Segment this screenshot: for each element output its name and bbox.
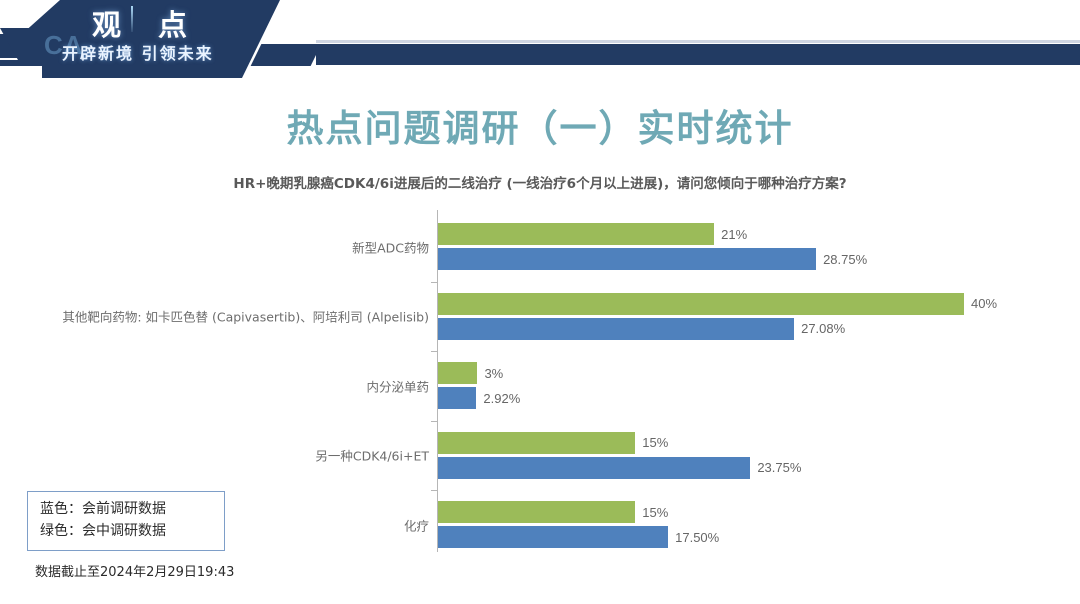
- page-title: 热点问题调研（一）实时统计: [0, 98, 1080, 152]
- chart-bar-row: 15%: [438, 501, 668, 523]
- chart-bar-value: 17.50%: [675, 530, 719, 545]
- chart-bar-row: 15%: [438, 432, 668, 454]
- header-banner: CA 观 点 开辟新境 引领未来: [0, 0, 300, 78]
- chart-bar-blue: [438, 248, 816, 270]
- chart-bar-blue: [438, 387, 476, 409]
- data-cutoff-note: 数据截止至2024年2月29日19:43: [35, 561, 234, 580]
- chart-category-label: 新型ADC药物: [352, 237, 429, 256]
- chart-bar-green: [438, 362, 477, 384]
- chart-category-label: 内分泌单药: [366, 376, 429, 395]
- chart-bar-value: 2.92%: [483, 391, 520, 406]
- chart-bar-value: 15%: [642, 505, 668, 520]
- chart-bar-green: [438, 223, 714, 245]
- banner-title: 观 点: [92, 2, 191, 44]
- legend-line-blue: 蓝色：会前调研数据: [40, 499, 214, 521]
- chart-bar-row: 23.75%: [438, 457, 801, 479]
- chart-category-label: 其他靶向药物: 如卡匹色替 (Capivasertib)、阿培利司 (Alpel…: [62, 307, 429, 326]
- chart-bar-blue: [438, 318, 794, 340]
- chart-category-group: 其他靶向药物: 如卡匹色替 (Capivasertib)、阿培利司 (Alpel…: [0, 282, 1080, 352]
- chart-axis-tick: [431, 351, 437, 352]
- banner-subtitle: 开辟新境 引领未来: [62, 40, 214, 64]
- legend-box: 蓝色：会前调研数据 绿色：会中调研数据: [27, 491, 225, 551]
- chart-bar-blue: [438, 457, 750, 479]
- chart-bar-row: 28.75%: [438, 248, 867, 270]
- chart-bar-row: 40%: [438, 293, 997, 315]
- chart-axis-tick: [431, 490, 437, 491]
- chart-bar-row: 21%: [438, 223, 747, 245]
- chart-bar-row: 3%: [438, 362, 503, 384]
- chart-bar-value: 27.08%: [801, 321, 845, 336]
- chart-bar-row: 17.50%: [438, 526, 719, 548]
- chart-category-group: 另一种CDK4/6i+ET15%23.75%: [0, 421, 1080, 491]
- vertical-divider-icon: [131, 6, 133, 32]
- survey-question: HR+晚期乳腺癌CDK4/6i进展后的二线治疗 (一线治疗6个月以上进展)，请问…: [0, 172, 1080, 192]
- chart-bar-green: [438, 432, 635, 454]
- chart-bar-row: 27.08%: [438, 318, 845, 340]
- header-bar-highlight: [316, 40, 1080, 43]
- chart-category-group: 内分泌单药3%2.92%: [0, 351, 1080, 421]
- chart-category-label: 另一种CDK4/6i+ET: [315, 446, 429, 465]
- chart-bar-value: 28.75%: [823, 252, 867, 267]
- chart-axis-tick: [431, 421, 437, 422]
- legend-line-green: 绿色：会中调研数据: [40, 521, 214, 543]
- chart-category-label: 化疗: [404, 515, 429, 534]
- chart-axis-tick: [431, 282, 437, 283]
- chart-bar-value: 40%: [971, 296, 997, 311]
- chart-bar-value: 15%: [642, 435, 668, 450]
- header-bar: [316, 44, 1080, 65]
- chart-bar-green: [438, 501, 635, 523]
- chart-bar-value: 3%: [484, 366, 503, 381]
- chart-bar-blue: [438, 526, 668, 548]
- banner-tail-shape: [251, 44, 322, 66]
- chart-bar-value: 23.75%: [757, 460, 801, 475]
- chart-category-group: 新型ADC药物21%28.75%: [0, 212, 1080, 282]
- chart-bar-green: [438, 293, 964, 315]
- chart-bar-row: 2.92%: [438, 387, 520, 409]
- chart-bar-value: 21%: [721, 227, 747, 242]
